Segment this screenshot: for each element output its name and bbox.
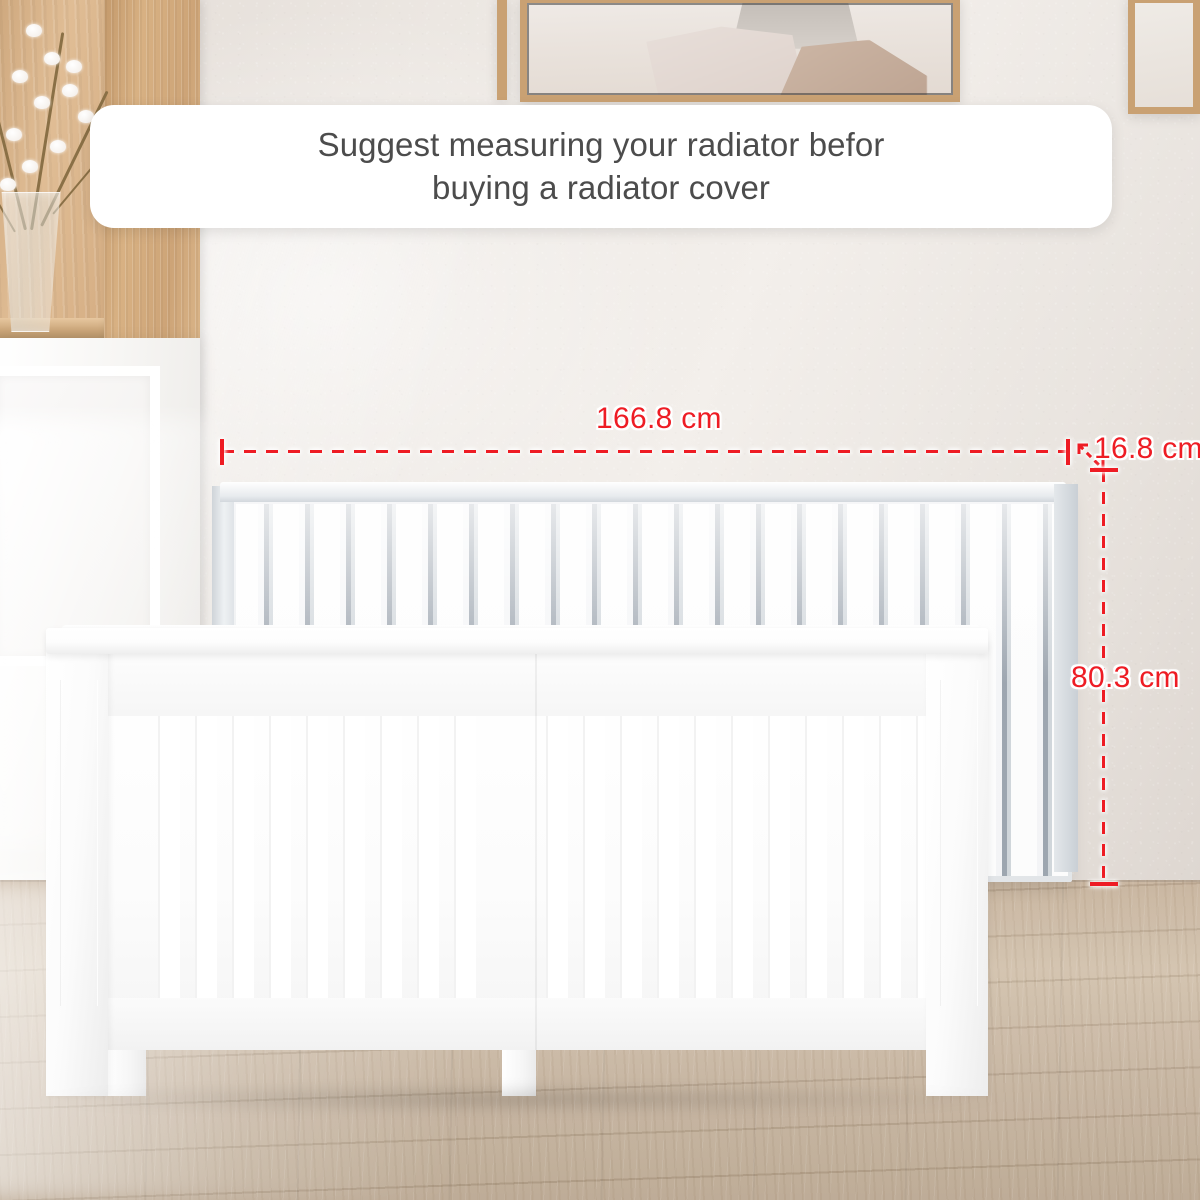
product-scene: 166.8 cm 16.8 cm 80.3 cm Suggest measuri… xyxy=(0,0,1200,1200)
cover-center-seam xyxy=(535,650,537,1050)
wall-artwork-center xyxy=(520,0,960,102)
banner-line-1: Suggest measuring your radiator befor xyxy=(318,126,885,163)
cover-bottom-rail xyxy=(94,998,988,1050)
cover-top-board xyxy=(46,628,988,654)
height-tick-top xyxy=(1090,468,1118,472)
height-dimension-label: 80.3 cm xyxy=(1071,661,1180,695)
cover-side-bevel-right xyxy=(940,680,978,1006)
wall-artwork-sliver xyxy=(497,0,507,100)
artwork-inner-border xyxy=(527,3,953,95)
cover-side-bevel-left xyxy=(60,680,98,1006)
width-tick-left xyxy=(220,439,224,465)
width-dimension-line xyxy=(222,450,1068,453)
width-tick-right xyxy=(1066,439,1070,465)
cover-top-rail xyxy=(94,650,988,716)
height-tick-bottom xyxy=(1090,882,1118,886)
depth-dimension-label: 16.8 cm xyxy=(1094,432,1200,466)
banner-text: Suggest measuring your radiator befor bu… xyxy=(318,124,885,210)
slat-shadows-left xyxy=(158,716,488,998)
width-dimension-label: 166.8 cm xyxy=(596,402,722,436)
wall-artwork-right xyxy=(1128,0,1200,114)
slat-shadows-right xyxy=(546,716,938,998)
advice-banner: Suggest measuring your radiator befor bu… xyxy=(90,105,1112,228)
cover-side-post-left xyxy=(46,642,108,1096)
radiator-cover-product xyxy=(46,628,988,1096)
banner-line-2: buying a radiator cover xyxy=(318,167,885,210)
cover-side-post-right xyxy=(926,642,988,1096)
cover-floor-shadow xyxy=(30,1086,1010,1112)
cover-slat-panel-right xyxy=(546,716,938,998)
cover-slat-panel-left xyxy=(158,716,488,998)
radiator-top-grille xyxy=(220,482,1066,502)
